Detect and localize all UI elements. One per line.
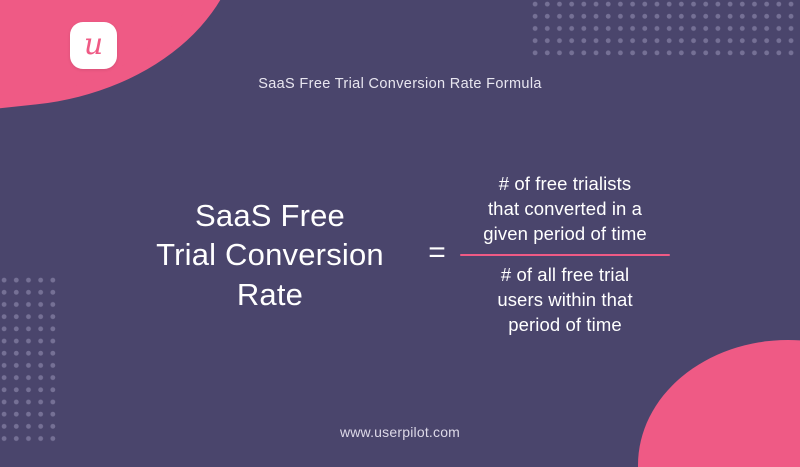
formula-container: SaaS Free Trial Conversion Rate = # of f…	[100, 160, 700, 350]
footer-website-url: www.userpilot.com	[0, 424, 800, 440]
userpilot-logo: u	[70, 22, 117, 69]
denominator-line-3: period of time	[460, 313, 670, 338]
fraction-denominator: # of all free trial users within that pe…	[460, 256, 670, 338]
numerator-line-2: that converted in a	[460, 197, 670, 222]
numerator-line-1: # of free trialists	[460, 172, 670, 197]
dot-grid-top-right-icon	[527, 0, 800, 60]
dot-grid-left-icon	[0, 272, 60, 444]
formula-left-term: SaaS Free Trial Conversion Rate	[130, 196, 414, 314]
infographic-slide: u SaaS Free Trial Conversion Rate Formul…	[0, 0, 800, 467]
numerator-line-3: given period of time	[460, 222, 670, 247]
formula-fraction: # of free trialists that converted in a …	[460, 172, 670, 338]
denominator-line-1: # of all free trial	[460, 263, 670, 288]
formula-left-line-1: SaaS Free	[130, 196, 410, 235]
equals-sign-icon: =	[414, 238, 460, 268]
logo-u-icon: u	[84, 30, 103, 60]
denominator-line-2: users within that	[460, 288, 670, 313]
formula-left-line-2: Trial Conversion	[130, 235, 410, 274]
fraction-numerator: # of free trialists that converted in a …	[460, 172, 670, 254]
pink-circle-bottom-right-icon	[638, 340, 800, 467]
formula-left-line-3: Rate	[130, 275, 410, 314]
page-title: SaaS Free Trial Conversion Rate Formula	[0, 76, 800, 92]
